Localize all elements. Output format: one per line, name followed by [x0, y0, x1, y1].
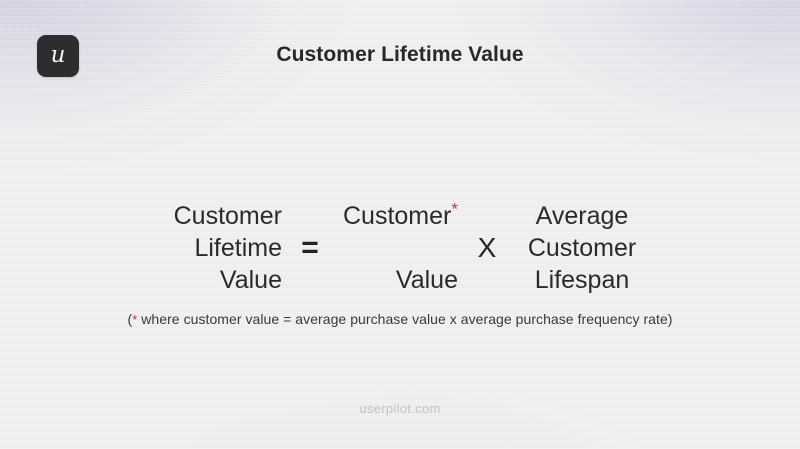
multiply-operator: X	[458, 234, 516, 262]
formula-middle-term-line1-wrap: Customer*	[338, 200, 458, 232]
footnote-reference-asterisk: *	[451, 200, 458, 219]
equals-operator: =	[282, 233, 338, 263]
formula-left-term: Customer Lifetime Value	[152, 200, 282, 296]
page-title: Customer Lifetime Value	[0, 43, 800, 67]
slide-canvas: u Customer Lifetime Value Customer Lifet…	[0, 0, 800, 449]
footnote-text: where customer value = average purchase …	[137, 311, 672, 327]
footer-watermark: userpilot.com	[0, 401, 800, 416]
formula-right-term: Average Customer Lifespan	[516, 200, 648, 296]
formula-row: Customer Lifetime Value = Customer* Valu…	[0, 168, 800, 328]
footnote: (* where customer value = average purcha…	[0, 311, 800, 327]
formula-middle-term-line2: Value	[338, 264, 458, 296]
formula-middle-term: Customer* Value	[338, 168, 458, 328]
formula-middle-term-line1: Customer	[343, 202, 451, 230]
